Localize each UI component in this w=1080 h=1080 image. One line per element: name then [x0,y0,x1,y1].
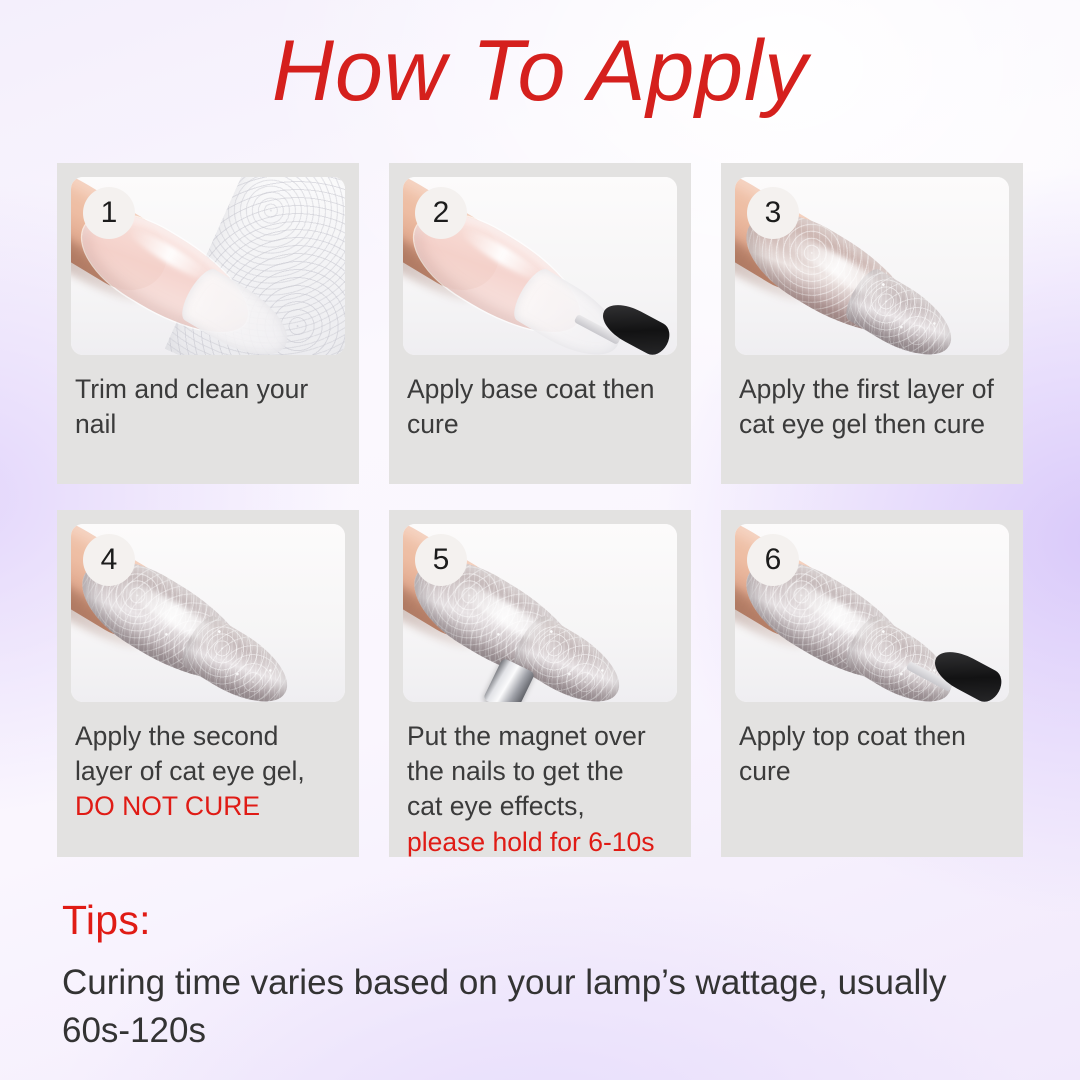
step-caption-line: Apply the second [75,719,343,754]
step-card: 6Apply top coat thencure [721,510,1023,857]
step-caption-line: cure [739,754,1007,789]
step-caption-line: cat eye gel then cure [739,407,1007,442]
step-number-badge: 6 [747,534,799,586]
tips-heading: Tips: [62,898,1080,943]
step-photo: 1 [71,177,345,355]
step-number-badge: 3 [747,187,799,239]
infographic-page: How To Apply 1Trim and clean yournail2Ap… [0,0,1080,1080]
step-number-badge: 2 [415,187,467,239]
step-caption-line: cure [407,407,675,442]
step-caption-line: Trim and clean your [75,372,343,407]
step-card: 2Apply base coat thencure [389,163,691,484]
tips-section: Tips: Curing time varies based on your l… [0,888,1080,1080]
step-caption: Apply the secondlayer of cat eye gel,DO … [75,719,343,825]
steps-grid: 1Trim and clean yournail2Apply base coat… [57,163,1023,857]
step-card: 4Apply the secondlayer of cat eye gel,DO… [57,510,359,857]
page-title: How To Apply [0,26,1080,116]
step-card: 3Apply the first layer ofcat eye gel the… [721,163,1023,484]
step-caption: Put the magnet overthe nails to get thec… [407,719,675,857]
step-caption-line: nail [75,407,343,442]
tips-body: Curing time varies based on your lamp’s … [62,959,1022,1054]
step-number-badge: 5 [415,534,467,586]
step-caption: Apply base coat thencure [407,372,675,442]
step-photo: 4 [71,524,345,702]
step-caption: Trim and clean yournail [75,372,343,442]
step-photo: 3 [735,177,1009,355]
step-photo: 6 [735,524,1009,702]
step-caption-line: Apply the first layer of [739,372,1007,407]
step-caption-line: Put the magnet over [407,719,675,754]
step-caption-line: Apply top coat then [739,719,1007,754]
step-number-badge: 4 [83,534,135,586]
step-card: 1Trim and clean yournail [57,163,359,484]
step-caption-line: please hold for 6-10s [407,825,675,857]
step-caption: Apply the first layer ofcat eye gel then… [739,372,1007,442]
step-caption-line: Apply base coat then [407,372,675,407]
step-number-badge: 1 [83,187,135,239]
step-photo: 5 [403,524,677,702]
step-caption-line: the nails to get the [407,754,675,789]
step-caption-line: cat eye effects, [407,789,675,824]
step-card: 5Put the magnet overthe nails to get the… [389,510,691,857]
step-caption-line: layer of cat eye gel, [75,754,343,789]
step-photo: 2 [403,177,677,355]
step-caption-line: DO NOT CURE [75,789,343,824]
step-caption: Apply top coat thencure [739,719,1007,789]
